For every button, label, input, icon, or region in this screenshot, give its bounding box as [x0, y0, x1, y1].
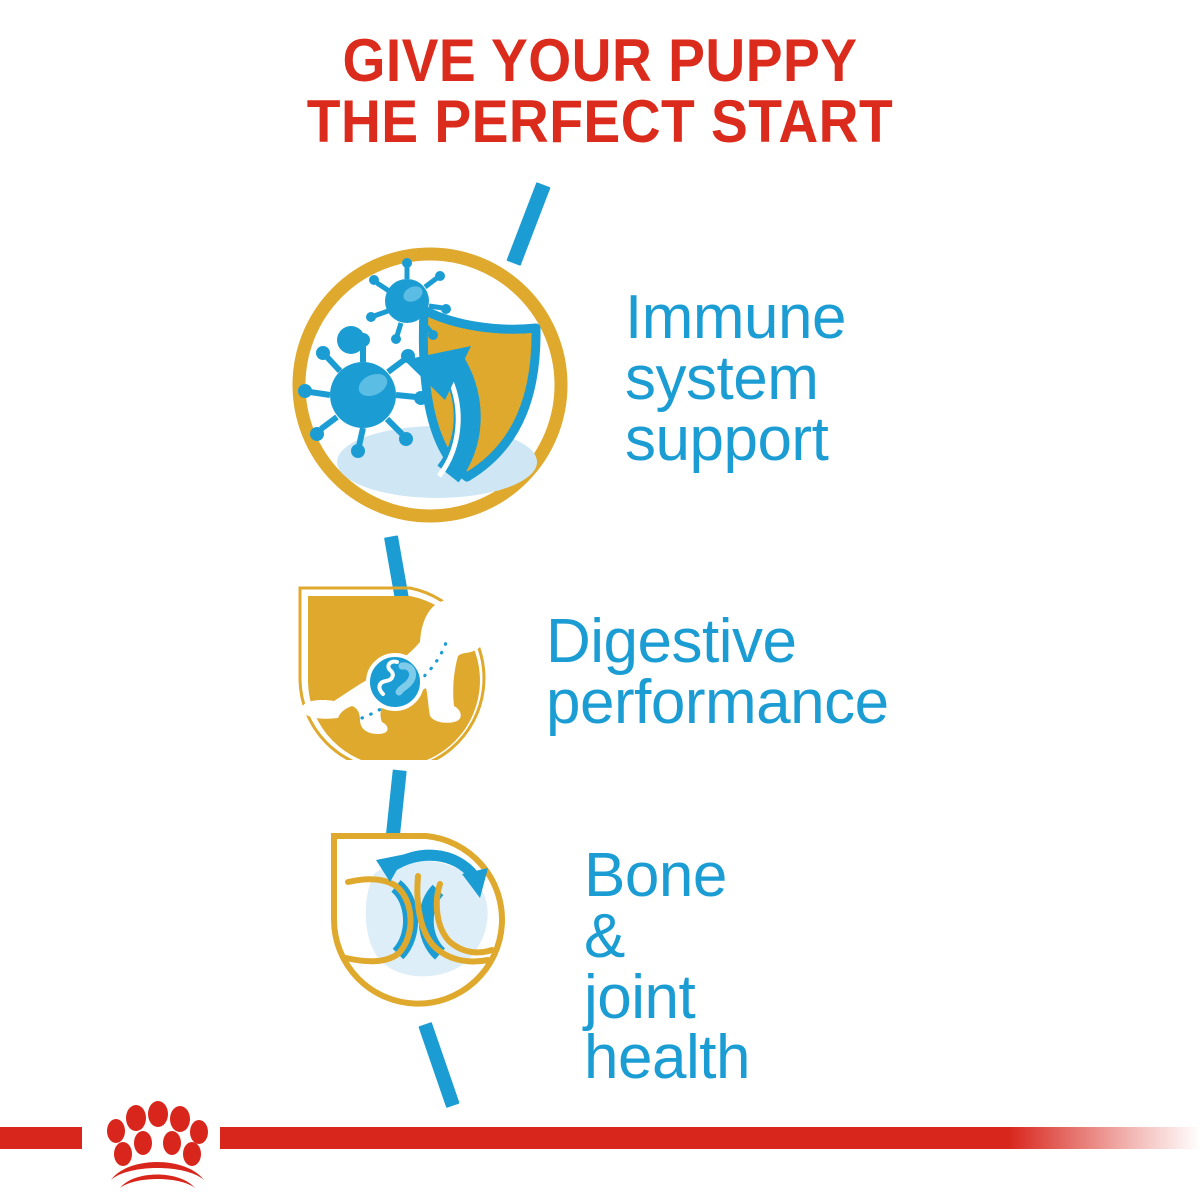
page-title-line-2: THE PERFECT START — [48, 91, 1152, 152]
feature-label-bone: Bone & joint health — [584, 846, 750, 1089]
feature-label-immune: Immune system support — [625, 288, 846, 470]
dashed-connector-bottom-icon — [418, 1022, 459, 1108]
page-title-line-1: GIVE YOUR PUPPY — [48, 30, 1152, 91]
feature-label-digestive: Digestive performance — [546, 612, 889, 734]
virus-particle-large — [298, 333, 428, 458]
royal-canin-crown-icon — [80, 1098, 222, 1188]
digestive-puppy-gut-icon — [278, 570, 518, 765]
bone-joint-cartilage-icon — [322, 824, 527, 1014]
infographic-page: GIVE YOUR PUPPY THE PERFECT START — [0, 0, 1200, 1200]
immune-shield-virus-icon — [285, 240, 575, 535]
page-title: GIVE YOUR PUPPY THE PERFECT START — [48, 30, 1152, 152]
